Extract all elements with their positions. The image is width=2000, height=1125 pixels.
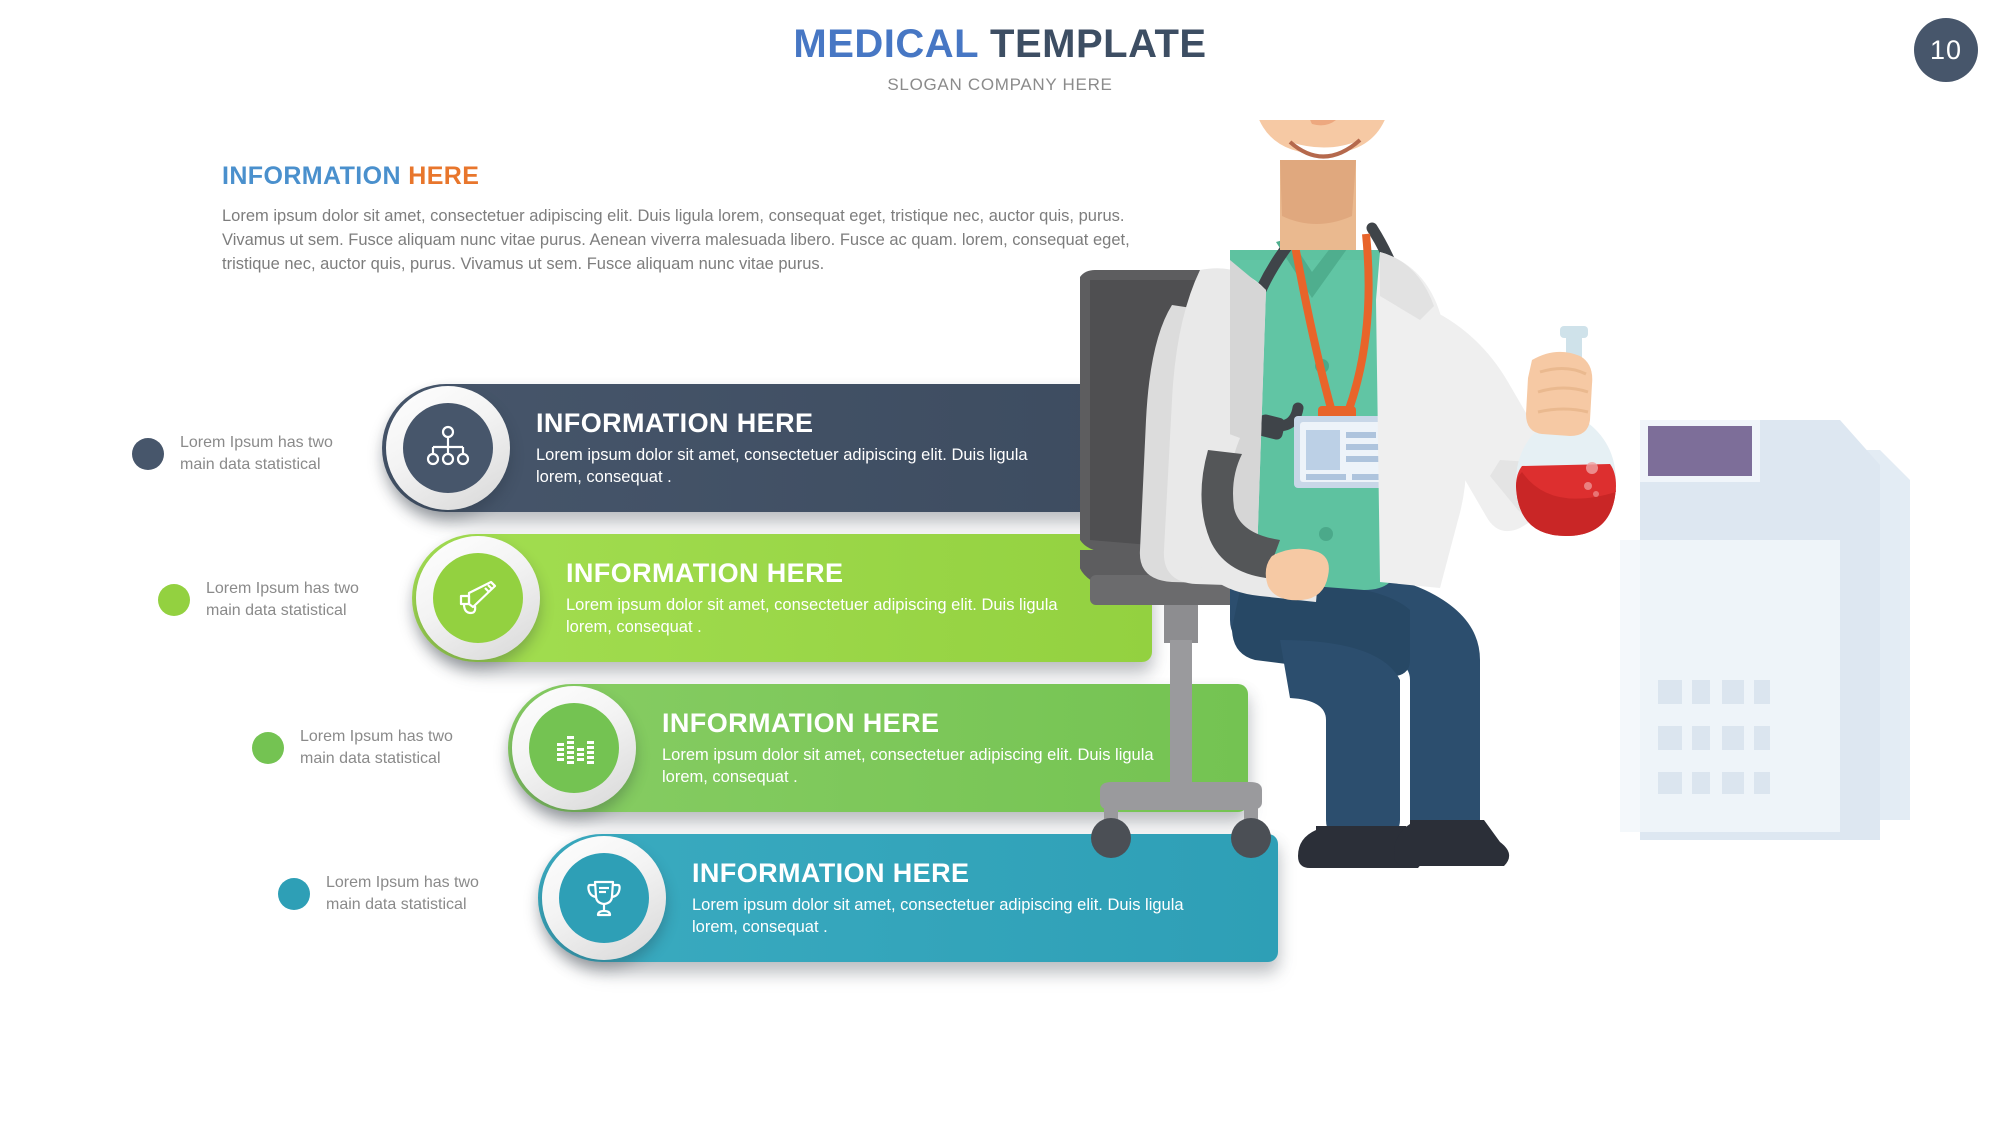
info-banner-2[interactable]: INFORMATION HERE Lorem ipsum dolor sit a… — [412, 534, 1152, 662]
legend-item: Lorem Ipsum has two main data statistica… — [158, 578, 381, 621]
monitor-screen — [1648, 426, 1752, 476]
legend-item: Lorem Ipsum has two main data statistica… — [132, 432, 355, 475]
legend-item: Lorem Ipsum has two main data statistica… — [252, 726, 475, 769]
banner-icon-container[interactable] — [542, 836, 666, 960]
intro-body-text: Lorem ipsum dolor sit amet, consectetuer… — [222, 205, 1142, 277]
banner-heading: INFORMATION HERE — [566, 558, 1066, 589]
legend-dot-icon — [132, 438, 164, 470]
legend-dot-icon — [158, 584, 190, 616]
shoes — [1298, 820, 1509, 868]
legend-label: Lorem Ipsum has two main data statistica… — [180, 432, 355, 475]
legend-label: Lorem Ipsum has two main data statistica… — [300, 726, 475, 769]
chair-caster — [1091, 818, 1131, 858]
page-title: MEDICAL TEMPLATE — [0, 22, 2000, 66]
legend-dot-icon — [252, 732, 284, 764]
page-title-primary: MEDICAL — [793, 22, 978, 66]
info-banner-1[interactable]: INFORMATION HERE Lorem ipsum dolor sit a… — [382, 384, 1122, 512]
banner-body: Lorem ipsum dolor sit amet, consectetuer… — [536, 444, 1036, 489]
page-number-badge: 10 — [1914, 18, 1978, 82]
intro-title-primary: INFORMATION — [222, 162, 401, 190]
trophy-icon — [559, 853, 649, 943]
lab-machine-illustration — [1620, 420, 1910, 840]
legend-label: Lorem Ipsum has two main data statistica… — [326, 872, 501, 915]
legs — [1230, 572, 1480, 836]
legend-dot-icon — [278, 878, 310, 910]
page-subtitle: SLOGAN COMPANY HERE — [0, 74, 2000, 95]
equalizer-icon — [529, 703, 619, 793]
org-chart-icon — [403, 403, 493, 493]
legend-label: Lorem Ipsum has two main data statistica… — [206, 578, 381, 621]
banner-heading: INFORMATION HERE — [536, 408, 1036, 439]
banner-text-block: INFORMATION HERE Lorem ipsum dolor sit a… — [536, 408, 1036, 489]
doctor-with-flask-illustration — [1080, 120, 2000, 1070]
intro-title-secondary: HERE — [408, 162, 479, 190]
chair-caster — [1231, 818, 1271, 858]
page-title-secondary: TEMPLATE — [990, 22, 1207, 66]
banner-body: Lorem ipsum dolor sit amet, consectetuer… — [566, 594, 1066, 639]
intro-section: INFORMATION HERE Lorem ipsum dolor sit a… — [222, 162, 1142, 277]
banner-text-block: INFORMATION HERE Lorem ipsum dolor sit a… — [566, 558, 1066, 639]
banner-icon-container[interactable] — [386, 386, 510, 510]
right-hand — [1526, 352, 1592, 436]
header: MEDICAL TEMPLATE SLOGAN COMPANY HERE — [0, 22, 2000, 95]
banner-icon-container[interactable] — [416, 536, 540, 660]
megaphone-icon — [433, 553, 523, 643]
banner-icon-container[interactable] — [512, 686, 636, 810]
left-hand — [1266, 549, 1329, 600]
legend-item: Lorem Ipsum has two main data statistica… — [278, 872, 501, 915]
intro-title: INFORMATION HERE — [222, 162, 1142, 191]
